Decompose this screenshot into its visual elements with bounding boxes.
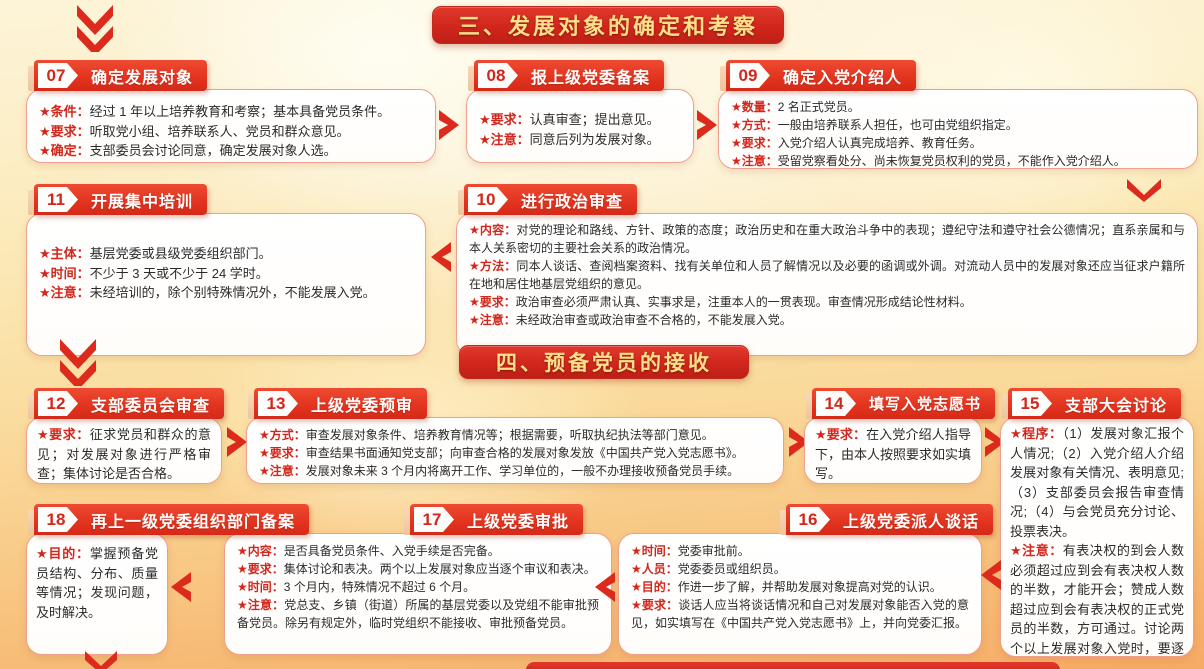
card-18-line: ★目的：掌握预备党员结构、分布、质量等情况；发现问题，及时解决。 xyxy=(36,544,158,622)
card-14-body: ★要求：在入党介绍人指导下，由本人按照要求如实填写。 xyxy=(804,417,982,484)
card-11-line: ★注意：未经培训的，除个别特殊情况外，不能发展入党。 xyxy=(39,283,413,303)
card-18-header: 18 再上一级党委组织部门备案 xyxy=(34,504,309,535)
card-18-title: 再上一级党委组织部门备案 xyxy=(78,504,295,535)
card-09-line: ★方式：一般由培养联系人担任，也可由党组织指定。 xyxy=(731,116,1185,134)
card-11-number: 11 xyxy=(38,187,78,212)
card-16-line: ★目的：作进一步了解，并帮助发展对象提高对党的认识。 xyxy=(631,578,969,596)
card-12-title: 支部委员会审查 xyxy=(78,388,210,419)
card-12-line: ★要求：征求党员和群众的意见；对发展对象进行严格审查；集体讨论是否合格。 xyxy=(37,425,211,484)
chevron-left-icon xyxy=(592,570,618,604)
card-13-line: ★注意：发展对象未来 3 个月内将离开工作、学习单位的，一般不办理接收预备党员手… xyxy=(259,462,771,480)
card-13-body: ★方式：审查发展对象条件、培养教育情况等；根据需要，听取执纪执法等部门意见。 ★… xyxy=(246,417,784,484)
card-11-line: ★主体：基层党委或县级党委组织部门。 xyxy=(39,244,413,264)
card-08-line: ★要求：认真审查；提出意见。 xyxy=(479,110,681,130)
section-banner-3: 三、发展对象的确定和考察 xyxy=(432,6,784,44)
card-17-body: ★内容：是否具备党员条件、入党手续是否完备。 ★要求：集体讨论和表决。两个以上发… xyxy=(224,533,612,655)
card-13-header: 13 上级党委预审 xyxy=(254,388,427,419)
card-10-line: ★方法：同本人谈话、查阅档案资料、找有关单位和人员了解情况以及必要的函调或外调。… xyxy=(469,257,1185,293)
card-15-line: ★注意：有表决权的到会人数必须超过应到会有表决权人数的半数，才能开会；赞成人数超… xyxy=(1010,541,1184,657)
card-16-line: ★人员：党委委员或组织员。 xyxy=(631,560,969,578)
card-17-line: ★时间：3 个月内，特殊情况不超过 6 个月。 xyxy=(237,578,599,596)
card-09-title: 确定入党介绍人 xyxy=(770,60,902,91)
card-07-line: ★条件：经过 1 年以上培养教育和考察；基本具备党员条件。 xyxy=(39,102,423,122)
card-13-title: 上级党委预审 xyxy=(298,388,413,419)
card-13-number: 13 xyxy=(258,391,298,416)
card-15-header: 15 支部大会讨论 xyxy=(1008,388,1181,419)
bottom-banner-strip xyxy=(526,662,1060,669)
chevron-down-icon xyxy=(82,648,120,669)
card-18-body: ★目的：掌握预备党员结构、分布、质量等情况；发现问题，及时解决。 xyxy=(26,533,168,655)
card-16-title: 上级党委派人谈话 xyxy=(830,504,979,535)
card-07-title: 确定发展对象 xyxy=(78,60,193,91)
card-15-body: ★程序：（1）发展对象汇报个人情况;（2）入党介绍人介绍发展对象有关情况、表明意… xyxy=(1000,417,1194,657)
card-10-line: ★内容：对党的理论和路线、方针、政策的态度；政治历史和在重大政治斗争中的表现；遵… xyxy=(469,221,1185,257)
section-banner-4: 四、预备党员的接收 xyxy=(459,345,749,379)
card-09-line: ★数量：2 名正式党员。 xyxy=(731,98,1185,116)
card-18-number: 18 xyxy=(38,507,78,532)
card-10-line: ★注意：未经政治审查或政治审查不合格的，不能发展入党。 xyxy=(469,311,1185,329)
card-09-header: 09 确定入党介绍人 xyxy=(726,60,916,91)
card-11-line: ★时间：不少于 3 天或不少于 24 学时。 xyxy=(39,264,413,284)
card-08-line: ★注意：同意后列为发展对象。 xyxy=(479,130,681,150)
card-07-header: 07 确定发展对象 xyxy=(34,60,207,91)
card-10-header: 10 进行政治审查 xyxy=(464,184,637,215)
infographic-canvas: 三、发展对象的确定和考察 07 确定发展对象 ★条件：经过 1 年以上培养教育和… xyxy=(0,0,1204,669)
card-13-line: ★方式：审查发展对象条件、培养教育情况等；根据需要，听取执纪执法等部门意见。 xyxy=(259,426,771,444)
card-08-header: 08 报上级党委备案 xyxy=(474,60,664,91)
chevron-right-icon xyxy=(694,108,720,142)
card-14-line: ★要求：在入党介绍人指导下，由本人按照要求如实填写。 xyxy=(815,425,971,484)
chevron-left-icon xyxy=(978,558,1004,592)
card-10-body: ★内容：对党的理论和路线、方针、政策的态度；政治历史和在重大政治斗争中的表现；遵… xyxy=(456,213,1198,356)
card-12-body: ★要求：征求党员和群众的意见；对发展对象进行严格审查；集体讨论是否合格。 xyxy=(26,417,222,484)
card-17-line: ★注意：党总支、乡镇（街道）所属的基层党委以及党组不能审批预备党员。除另有规定外… xyxy=(237,596,599,632)
card-16-header: 16 上级党委派人谈话 xyxy=(786,504,993,535)
card-09-line: ★要求：入党介绍人认真完成培养、教育任务。 xyxy=(731,134,1185,152)
card-10-number: 10 xyxy=(468,187,508,212)
card-07-line: ★确定：支部委员会讨论同意，确定发展对象人选。 xyxy=(39,141,423,161)
card-17-number: 17 xyxy=(414,507,454,532)
card-17-line: ★要求：集体讨论和表决。两个以上发展对象应当逐个审议和表决。 xyxy=(237,560,599,578)
chevron-down-icon xyxy=(1124,176,1164,202)
chevron-left-icon xyxy=(428,240,454,274)
card-09-number: 09 xyxy=(730,63,770,88)
card-14-title: 填写入党志愿书 xyxy=(856,388,981,419)
card-15-number: 15 xyxy=(1012,391,1052,416)
card-09-body: ★数量：2 名正式党员。 ★方式：一般由培养联系人担任，也可由党组织指定。 ★要… xyxy=(718,89,1198,169)
card-17-line: ★内容：是否具备党员条件、入党手续是否完备。 xyxy=(237,542,599,560)
card-08-number: 08 xyxy=(478,63,518,88)
card-09-line: ★注意：受留党察看处分、尚未恢复党员权利的党员，不能作入党介绍人。 xyxy=(731,152,1185,169)
card-15-title: 支部大会讨论 xyxy=(1052,388,1167,419)
card-07-number: 07 xyxy=(38,63,78,88)
card-11-header: 11 开展集中培训 xyxy=(34,184,207,215)
card-07-line: ★要求：听取党小组、培养联系人、党员和群众意见。 xyxy=(39,122,423,142)
card-12-number: 12 xyxy=(38,391,78,416)
card-08-title: 报上级党委备案 xyxy=(518,60,650,91)
card-14-number: 14 xyxy=(816,391,856,416)
card-17-header: 17 上级党委审批 xyxy=(410,504,583,535)
card-16-line: ★时间：党委审批前。 xyxy=(631,542,969,560)
card-11-body: ★主体：基层党委或县级党委组织部门。 ★时间：不少于 3 天或不少于 24 学时… xyxy=(26,213,426,356)
card-11-title: 开展集中培训 xyxy=(78,184,193,215)
double-chevron-down-icon xyxy=(57,336,99,386)
card-16-line: ★要求：谈话人应当将谈话情况和自己对发展对象能否入党的意见，如实填写在《中国共产… xyxy=(631,596,969,632)
card-16-body: ★时间：党委审批前。 ★人员：党委委员或组织员。 ★目的：作进一步了解，并帮助发… xyxy=(618,533,982,655)
double-chevron-down-icon xyxy=(74,2,116,52)
card-08-body: ★要求：认真审查；提出意见。 ★注意：同意后列为发展对象。 xyxy=(466,89,694,163)
card-07-body: ★条件：经过 1 年以上培养教育和考察；基本具备党员条件。 ★要求：听取党小组、… xyxy=(26,89,436,163)
card-13-line: ★要求：审查结果书面通知党支部；向审查合格的发展对象发放《中国共产党入党志愿书》… xyxy=(259,444,771,462)
chevron-right-icon xyxy=(436,108,462,142)
card-16-number: 16 xyxy=(790,507,830,532)
chevron-left-icon xyxy=(168,570,194,604)
card-15-line: ★程序：（1）发展对象汇报个人情况;（2）入党介绍人介绍发展对象有关情况、表明意… xyxy=(1010,424,1184,541)
card-14-header: 14 填写入党志愿书 xyxy=(812,388,995,419)
card-10-title: 进行政治审查 xyxy=(508,184,623,215)
card-12-header: 12 支部委员会审查 xyxy=(34,388,224,419)
card-17-title: 上级党委审批 xyxy=(454,504,569,535)
section-banner-4-text: 四、预备党员的接收 xyxy=(496,347,712,377)
card-10-line: ★要求：政治审查必须严肃认真、实事求是，注重本人的一贯表现。审查情况形成结论性材… xyxy=(469,293,1185,311)
section-banner-3-text: 三、发展对象的确定和考察 xyxy=(458,9,758,41)
